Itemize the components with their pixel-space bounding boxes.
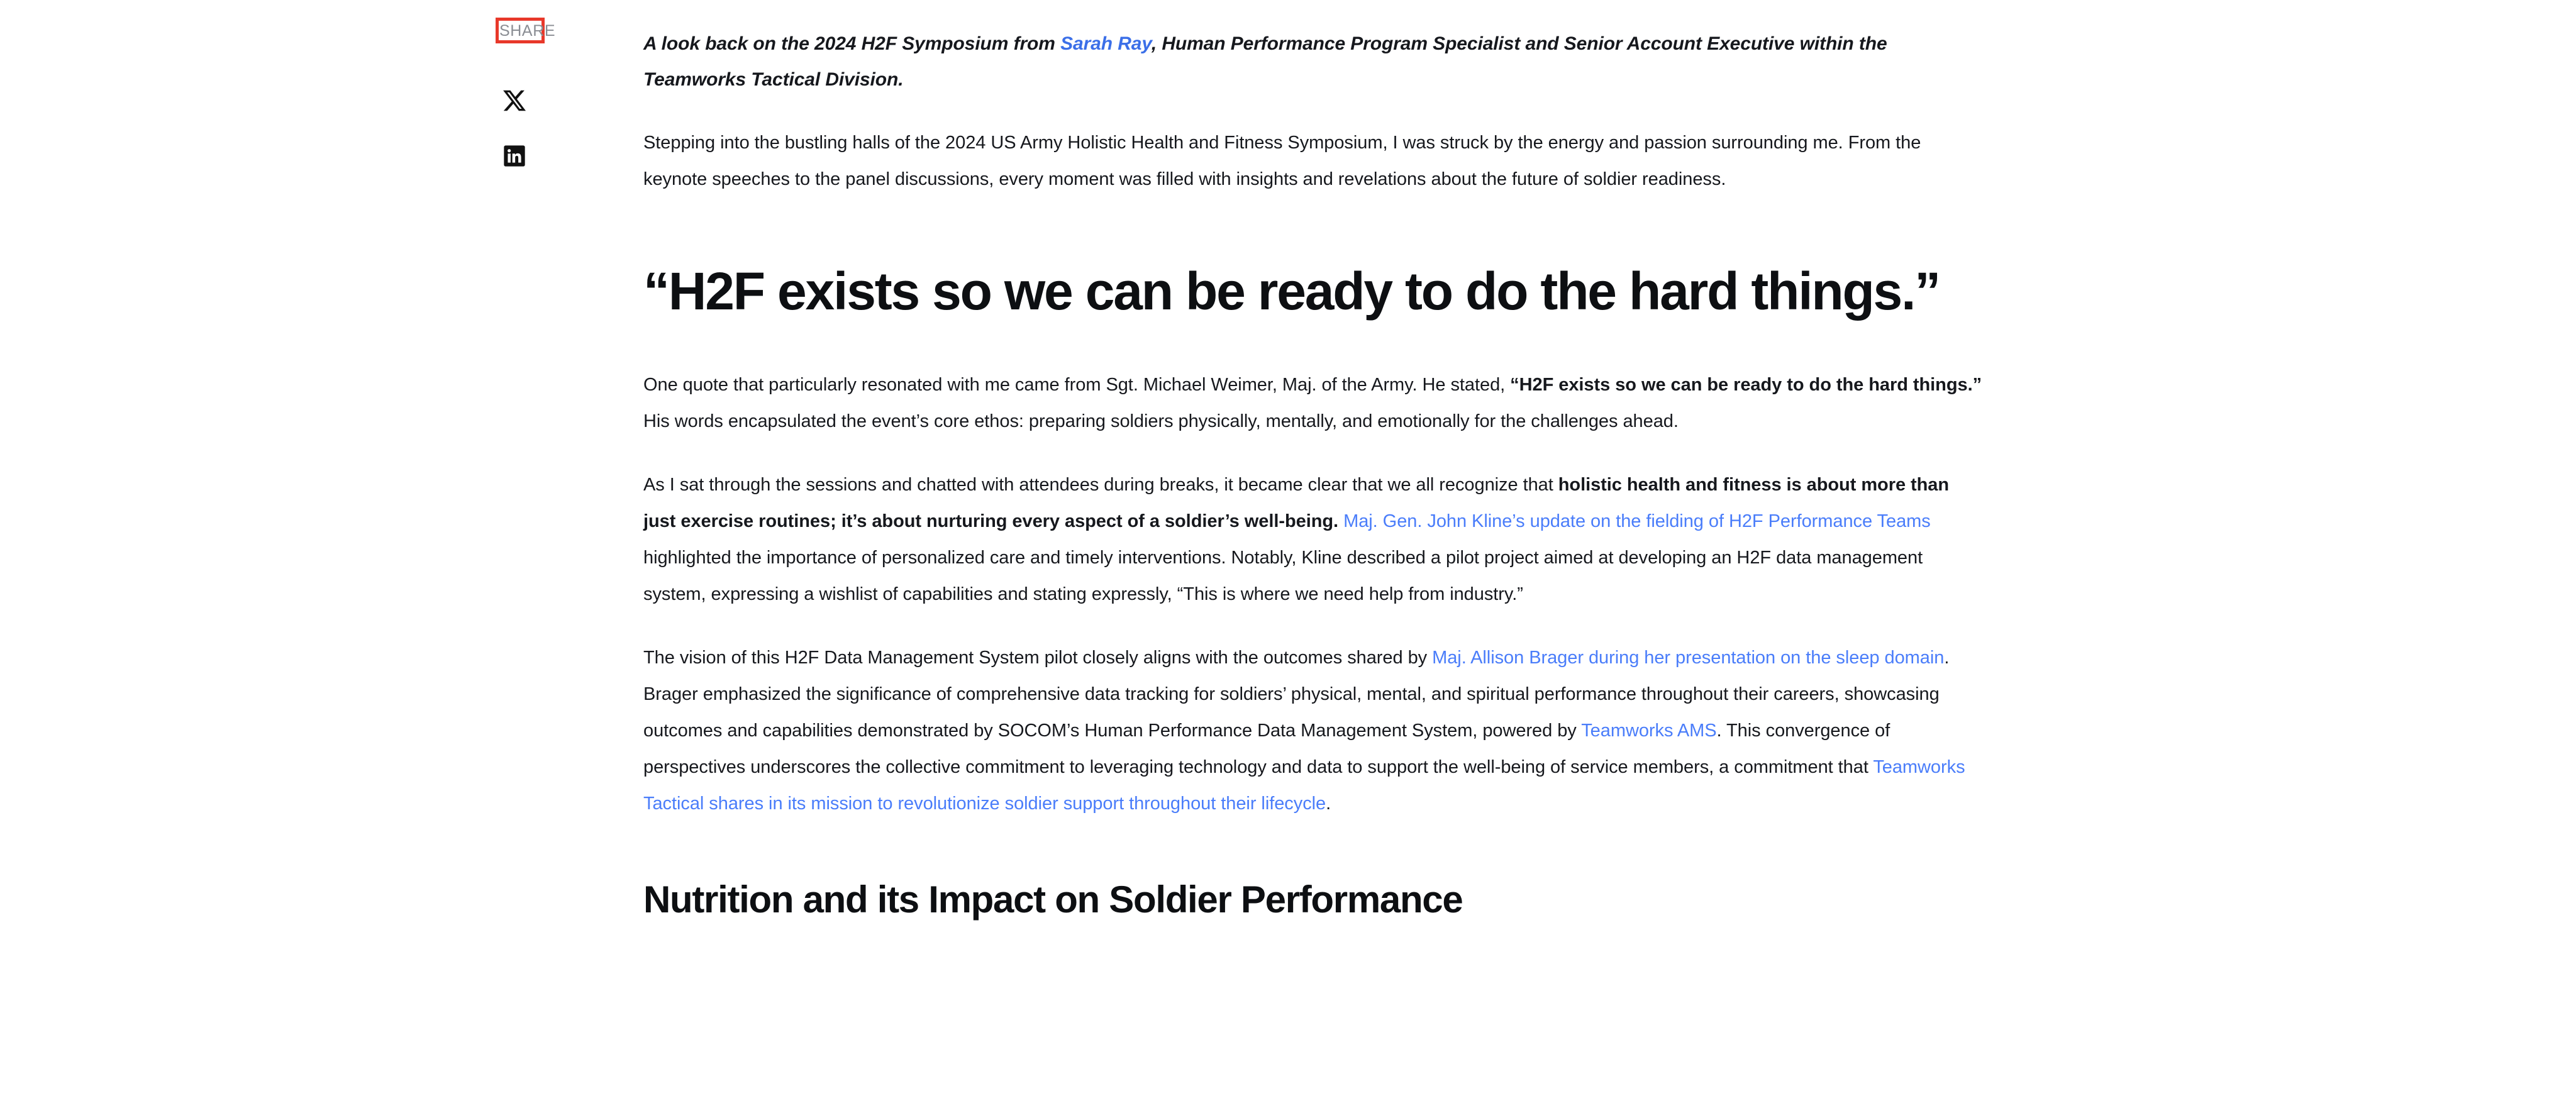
intro-paragraph: Stepping into the bustling halls of the … [643, 97, 1986, 197]
allison-brager-link[interactable]: Maj. Allison Brager during her presentat… [1432, 648, 1944, 668]
sarah-ray-link[interactable]: Sarah Ray [1060, 33, 1152, 54]
quote-bold-text: “H2F exists so we can be ready to do the… [1510, 375, 1982, 395]
share-label-container: SHARE [496, 18, 545, 43]
x-twitter-icon[interactable] [502, 88, 537, 123]
lead-paragraph: A look back on the 2024 H2F Symposium fr… [643, 0, 1986, 97]
article-body: A look back on the 2024 H2F Symposium fr… [643, 0, 1986, 924]
pullquote-heading: “H2F exists so we can be ready to do the… [643, 197, 1986, 340]
section-heading-nutrition: Nutrition and its Impact on Soldier Perf… [643, 822, 1986, 924]
vision-paragraph: The vision of this H2F Data Management S… [643, 612, 1986, 822]
vision-text-part4: . [1326, 794, 1331, 814]
holistic-text-part3: highlighted the importance of personaliz… [643, 548, 1923, 604]
holistic-paragraph: As I sat through the sessions and chatte… [643, 440, 1986, 612]
quote-text-part2: His words encapsulated the event’s core … [643, 411, 1679, 431]
holistic-text-spacer [1338, 511, 1343, 531]
linkedin-icon[interactable] [502, 143, 537, 179]
share-label: SHARE [499, 23, 555, 39]
john-kline-update-link[interactable]: Maj. Gen. John Kline’s update on the fie… [1343, 511, 1931, 531]
lead-text-part1: A look back on the 2024 H2F Symposium fr… [643, 33, 1060, 54]
quote-text-part1: One quote that particularly resonated wi… [643, 375, 1510, 395]
quote-paragraph: One quote that particularly resonated wi… [643, 340, 1986, 440]
teamworks-ams-link[interactable]: Teamworks AMS [1581, 721, 1716, 741]
share-rail: SHARE [496, 18, 571, 43]
holistic-text-part1: As I sat through the sessions and chatte… [643, 475, 1558, 495]
vision-text-part1: The vision of this H2F Data Management S… [643, 648, 1432, 668]
